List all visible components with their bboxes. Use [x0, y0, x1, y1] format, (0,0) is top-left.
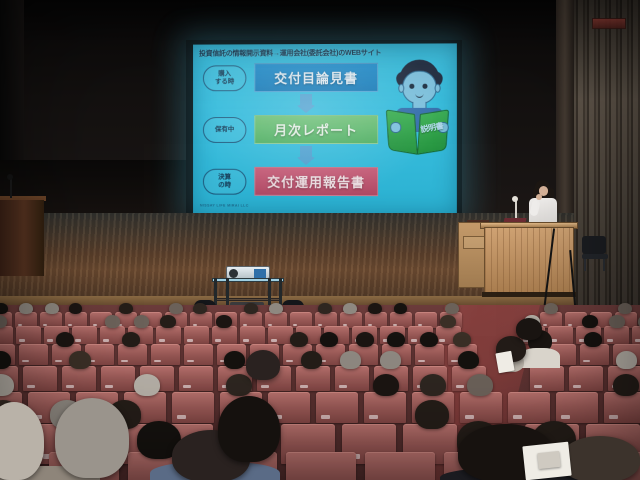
audience-seat	[286, 452, 356, 480]
audience-head	[224, 351, 245, 369]
podium-microphone-icon	[512, 196, 518, 202]
slide-title: 投資信託の情報開示資料→運用会社(委託会社)のWEBサイト	[199, 48, 451, 58]
slide-company-logo: NISSAY LIFE MIRAI LLC	[200, 203, 249, 207]
audience-seat	[364, 392, 406, 423]
wall-sign	[592, 18, 626, 29]
audience-seat	[296, 366, 330, 391]
audience-seat	[556, 392, 598, 423]
audience-head	[613, 374, 639, 396]
audience-seat	[72, 326, 97, 344]
audience-head	[458, 351, 479, 369]
podium-base	[482, 292, 576, 297]
audience-seat	[365, 452, 435, 480]
audience-head	[544, 303, 558, 315]
audience-head	[226, 374, 252, 396]
audience-head	[119, 303, 133, 315]
handout-photo	[537, 451, 561, 469]
boy-eye-left	[409, 84, 414, 89]
audience-seat	[240, 326, 265, 344]
audience-seat	[118, 344, 147, 365]
audience-head	[169, 303, 183, 315]
audience-head	[516, 318, 542, 340]
chair-leg	[584, 259, 586, 271]
audience-head	[440, 315, 456, 328]
audience-head	[368, 303, 382, 315]
audience-seat	[0, 326, 13, 344]
audience-head	[69, 351, 90, 369]
audience-head	[56, 332, 74, 347]
audience-seat	[460, 392, 502, 423]
audience-head	[246, 350, 280, 380]
stage-label-purchase: 購入 する時	[203, 65, 246, 91]
flow-row: 保有中 月次レポート	[199, 114, 380, 146]
audience-head	[340, 351, 361, 369]
audience-seat	[23, 366, 57, 391]
podium	[484, 227, 574, 295]
flow-arrow-2	[199, 146, 380, 166]
slide-flow-diagram: 購入 する時 交付目論見書 保有中 月次レポート	[199, 62, 380, 198]
audience-seat	[184, 326, 209, 344]
audience-seat	[101, 366, 135, 391]
audience-seat	[604, 392, 640, 423]
projector-panel	[254, 269, 266, 278]
audience-head	[134, 315, 150, 328]
audience-head	[134, 374, 160, 396]
boy-reading-book-illustration: 説明書	[388, 60, 451, 157]
audience-seat	[172, 392, 214, 423]
audience-head	[582, 315, 598, 328]
audience-head	[19, 303, 33, 315]
audience-head	[420, 374, 446, 396]
audience-seat	[508, 392, 550, 423]
audience-head	[122, 332, 140, 347]
document-box-monthly-report: 月次レポート	[254, 115, 378, 144]
audience-head	[616, 351, 637, 369]
audience-seat	[632, 326, 640, 344]
audience-seat	[184, 344, 213, 365]
microphone-icon	[7, 174, 13, 180]
stage-label-line1: 保有中	[215, 126, 234, 134]
flow-row: 購入 する時 交付目論見書	[199, 62, 380, 94]
audience-head	[216, 315, 232, 328]
chair-leg	[603, 259, 605, 271]
book-left-page-icon	[386, 109, 418, 154]
left-lectern-mic-stand	[10, 178, 12, 198]
audience-seat	[179, 366, 213, 391]
stage-label-holding: 保有中	[203, 117, 246, 143]
boy-face	[402, 71, 436, 104]
stage-label-line1: 購入	[218, 70, 231, 78]
flow-row: 決算 の時 交付運用報告書	[199, 166, 380, 198]
audience-head	[45, 303, 59, 315]
auditorium-photo: 投資信託の情報開示資料→運用会社(委託会社)のWEBサイト 購入 する時 交付目…	[0, 0, 640, 480]
flow-arrow-1	[199, 94, 380, 114]
audience-seat	[530, 366, 564, 391]
right-wall-shading	[574, 0, 640, 330]
cart-top-shelf	[212, 278, 284, 282]
audience-head	[69, 303, 83, 315]
audience-seat	[335, 366, 369, 391]
audience-head-foreground	[55, 398, 129, 478]
audience-head	[105, 315, 121, 328]
audience-seat	[212, 326, 237, 344]
document-box-operation-report: 交付運用報告書	[254, 167, 378, 196]
boy-eye-right	[422, 84, 427, 89]
audience-head	[373, 374, 399, 396]
audience-seat	[415, 344, 444, 365]
audience-head	[320, 332, 338, 347]
hall-ceiling	[0, 0, 640, 40]
audience-head	[445, 303, 459, 315]
projector-lens-icon	[229, 269, 238, 278]
audience-head	[301, 351, 322, 369]
audience-head	[420, 332, 438, 347]
left-lectern	[0, 198, 44, 276]
audience-head	[356, 332, 374, 347]
audience-head	[453, 332, 471, 347]
projection-screen: 投資信託の情報開示資料→運用会社(委託会社)のWEBサイト 購入 する時 交付目…	[193, 43, 457, 214]
audience-seat	[62, 366, 96, 391]
audience-head	[269, 303, 283, 315]
audience-seat	[569, 366, 603, 391]
audience-head	[193, 303, 207, 315]
audience-seat	[156, 326, 181, 344]
audience-head-foreground	[560, 436, 640, 480]
audience-seat	[19, 344, 48, 365]
document-box-prospectus: 交付目論見書	[254, 63, 378, 92]
stage-label-line2: する時	[215, 78, 234, 86]
audience-head	[394, 303, 408, 315]
audience-seat	[580, 344, 609, 365]
boy-hand-left	[390, 122, 401, 133]
audience-head	[160, 315, 176, 328]
audience-head	[318, 303, 332, 315]
stage-label-settlement: 決算 の時	[203, 169, 246, 195]
stage-chair	[582, 236, 608, 270]
audience-seat	[604, 326, 629, 344]
cart-lower-shelf	[215, 298, 281, 301]
audience-head	[609, 315, 625, 328]
audience-seat	[16, 326, 41, 344]
chair-back	[582, 236, 606, 254]
audience-head-foreground	[218, 396, 280, 462]
audience-head	[584, 332, 602, 347]
audience-shoulders	[520, 348, 560, 368]
audience-head	[387, 332, 405, 347]
stage-label-line1: 決算	[218, 174, 231, 182]
audience-seat	[151, 344, 180, 365]
audience-head	[244, 303, 258, 315]
boy-ear-right	[435, 84, 441, 93]
audience-head	[290, 332, 308, 347]
audience-head	[467, 374, 493, 396]
presenter-hand	[536, 194, 542, 200]
audience-head	[343, 303, 357, 315]
audience-head	[415, 400, 448, 429]
audience-head	[618, 303, 632, 315]
boy-ear-left	[398, 84, 404, 93]
audience-seat	[316, 392, 358, 423]
stage-label-line2: の時	[218, 182, 231, 190]
handout-paper	[495, 351, 514, 373]
audience-head	[380, 351, 401, 369]
